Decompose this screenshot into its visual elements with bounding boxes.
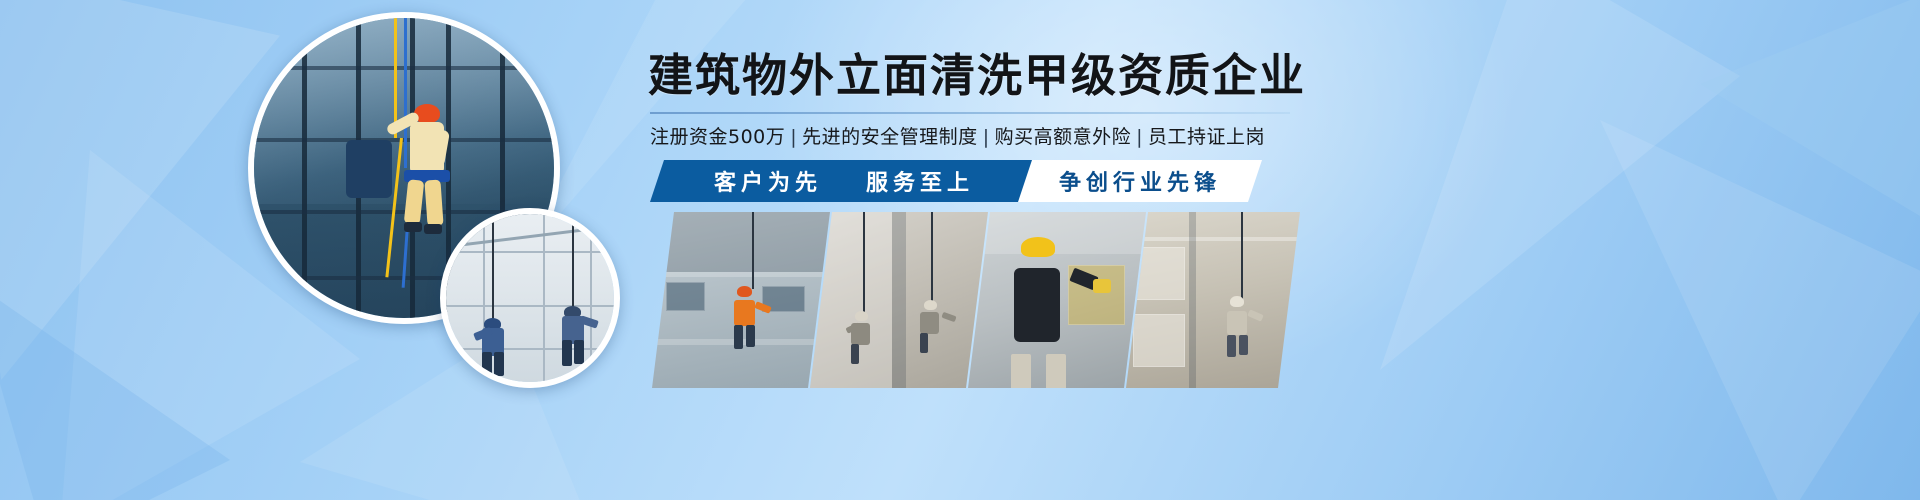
photo-strip (652, 212, 1300, 388)
slogan-tag-bar: 客户为先 服务至上 争创行业先锋 (650, 160, 1290, 202)
banner-headline: 建筑物外立面清洗甲级资质企业 (648, 52, 1296, 99)
strip-panel-3 (968, 212, 1146, 388)
slogan-tag-white: 争创行业先锋 (1018, 160, 1262, 202)
strip-panel-2 (810, 212, 988, 388)
headline-divider (650, 112, 1290, 114)
subline-separator: | (1131, 126, 1148, 148)
scene-balcony-rappel (1126, 212, 1300, 388)
strip-panel-4 (1126, 212, 1300, 388)
subline-separator: | (978, 126, 995, 148)
light-facade-scene (446, 214, 614, 382)
scene-wall-coating (810, 212, 988, 388)
subline-item-4: 员工持证上岗 (1148, 126, 1265, 148)
subline-item-3: 购买高额意外险 (995, 126, 1132, 148)
subline-item-1: 注册资金500万 (650, 126, 785, 148)
slogan-tag-blue-text-1: 客户为先 (714, 165, 822, 197)
slogan-tag-blue-text-2: 服务至上 (866, 165, 974, 197)
subline-separator: | (785, 126, 802, 148)
circle-photo-facade-workers (440, 208, 620, 388)
scene-rappelling-worker (652, 212, 830, 388)
banner-subline: 注册资金500万|先进的安全管理制度|购买高额意外险|员工持证上岗 (650, 122, 1298, 149)
slogan-tag-blue: 客户为先 服务至上 (650, 160, 1038, 202)
scene-plastering-worker (968, 212, 1146, 388)
promo-banner: 建筑物外立面清洗甲级资质企业 注册资金500万|先进的安全管理制度|购买高额意外… (0, 0, 1920, 500)
strip-panel-1 (652, 212, 830, 388)
slogan-tag-white-text: 争创行业先锋 (1059, 165, 1221, 197)
subline-item-2: 先进的安全管理制度 (802, 126, 978, 148)
